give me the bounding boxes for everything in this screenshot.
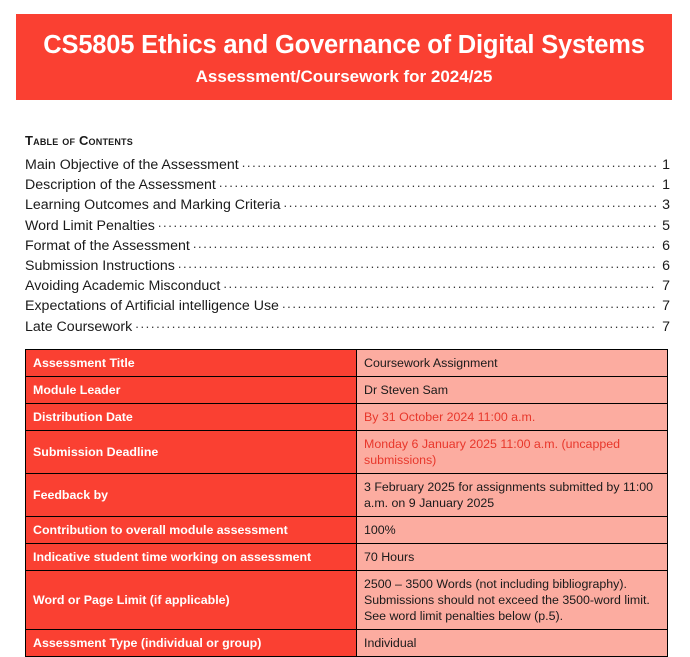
row-label-word-limit: Word or Page Limit (if applicable) [26,571,357,630]
row-label-feedback-by: Feedback by [26,474,357,517]
toc-entry-label: Learning Outcomes and Marking Criteria [25,196,283,215]
assessment-summary-table: Assessment Title Coursework Assignment M… [25,349,668,657]
toc-dot-leader [219,175,657,189]
toc-dot-leader [242,155,657,169]
table-row: Feedback by 3 February 2025 for assignme… [26,474,668,517]
table-row: Indicative student time working on asses… [26,544,668,571]
toc-dot-leader [135,317,657,331]
table-row: Word or Page Limit (if applicable) 2500 … [26,571,668,630]
toc-dot-leader [284,195,658,209]
toc-entry-page: 6 [658,257,670,276]
toc-entry-page: 7 [658,277,670,296]
toc-entry-page: 7 [658,318,670,337]
toc-dot-leader [223,276,657,290]
toc-entry[interactable]: Learning Outcomes and Marking Criteria 3 [25,195,670,215]
toc-entry[interactable]: Late Coursework 7 [25,317,670,337]
toc-entry-page: 7 [658,297,670,316]
toc-entry-label: Main Objective of the Assessment [25,156,241,175]
table-row: Assessment Title Coursework Assignment [26,350,668,377]
row-value-distribution-date: By 31 October 2024 11:00 a.m. [357,404,668,431]
toc-entry-page: 3 [658,196,670,215]
row-label-assessment-title: Assessment Title [26,350,357,377]
row-label-module-leader: Module Leader [26,377,357,404]
row-value-indicative-time: 70 Hours [357,544,668,571]
toc-dot-leader [282,296,657,310]
row-value-contribution: 100% [357,517,668,544]
toc-entry-page: 6 [658,237,670,256]
toc-entry-label: Expectations of Artificial intelligence … [25,297,281,316]
toc-entry[interactable]: Word Limit Penalties 5 [25,216,670,236]
row-value-feedback-by: 3 February 2025 for assignments submitte… [357,474,668,517]
module-subtitle: Assessment/Coursework for 2024/25 [196,67,493,87]
row-value-module-leader: Dr Steven Sam [357,377,668,404]
table-row: Module Leader Dr Steven Sam [26,377,668,404]
row-label-contribution: Contribution to overall module assessmen… [26,517,357,544]
module-title: CS5805 Ethics and Governance of Digital … [43,31,644,60]
toc-entry-page: 1 [658,156,670,175]
toc-entry[interactable]: Expectations of Artificial intelligence … [25,296,670,316]
row-value-assessment-type: Individual [357,630,668,657]
row-value-assessment-title: Coursework Assignment [357,350,668,377]
row-label-assessment-type: Assessment Type (individual or group) [26,630,357,657]
table-row: Contribution to overall module assessmen… [26,517,668,544]
toc-entry[interactable]: Avoiding Academic Misconduct 7 [25,276,670,296]
toc-entry[interactable]: Submission Instructions 6 [25,256,670,276]
table-of-contents: Table of Contents Main Objective of the … [25,133,670,337]
toc-entry-page: 5 [658,217,670,236]
toc-entry-label: Late Coursework [25,318,134,337]
toc-entry[interactable]: Format of the Assessment 6 [25,236,670,256]
toc-entry[interactable]: Main Objective of the Assessment 1 [25,155,670,175]
toc-entry-label: Word Limit Penalties [25,217,157,236]
toc-entry-label: Format of the Assessment [25,237,192,256]
table-row: Assessment Type (individual or group) In… [26,630,668,657]
toc-dot-leader [178,256,657,270]
row-value-word-limit: 2500 – 3500 Words (not including bibliog… [357,571,668,630]
toc-dot-leader [158,216,657,230]
toc-entry-label: Submission Instructions [25,257,177,276]
row-label-distribution-date: Distribution Date [26,404,357,431]
row-value-submission-deadline: Monday 6 January 2025 11:00 a.m. (uncapp… [357,431,668,474]
toc-entry-page: 1 [658,176,670,195]
row-label-indicative-time: Indicative student time working on asses… [26,544,357,571]
table-row: Submission Deadline Monday 6 January 202… [26,431,668,474]
row-label-submission-deadline: Submission Deadline [26,431,357,474]
table-row: Distribution Date By 31 October 2024 11:… [26,404,668,431]
toc-entry-label: Avoiding Academic Misconduct [25,277,222,296]
toc-entry[interactable]: Description of the Assessment 1 [25,175,670,195]
document-header-banner: CS5805 Ethics and Governance of Digital … [16,14,672,100]
toc-entry-label: Description of the Assessment [25,176,218,195]
toc-dot-leader [193,236,657,250]
table-of-contents-heading: Table of Contents [25,133,670,150]
